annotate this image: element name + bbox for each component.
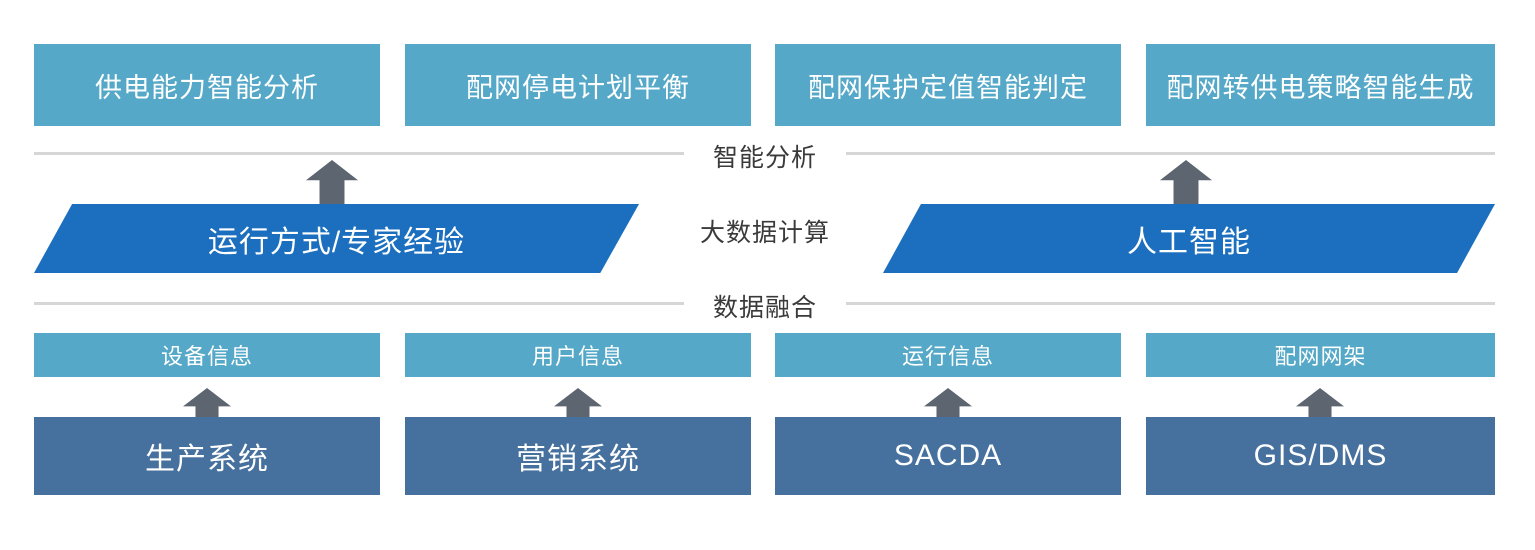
analysis-box-3[interactable]: 配网转供电策略智能生成: [1146, 44, 1495, 126]
source-system-3[interactable]: GIS/DMS: [1146, 417, 1495, 495]
analysis-box-label: 配网保护定值智能判定: [808, 66, 1088, 105]
analysis-box-label: 供电能力智能分析: [95, 66, 319, 105]
divider-line-analysis-left: [34, 152, 684, 155]
compute-block-label: 人工智能: [1127, 217, 1251, 261]
analysis-box-label: 配网转供电策略智能生成: [1167, 66, 1475, 105]
compute-block-1[interactable]: 人工智能: [883, 204, 1495, 273]
architecture-diagram: 供电能力智能分析 配网停电计划平衡 配网保护定值智能判定 配网转供电策略智能生成…: [0, 0, 1535, 550]
info-bar-1[interactable]: 用户信息: [405, 333, 751, 377]
info-bar-2[interactable]: 运行信息: [775, 333, 1121, 377]
layer-caption-compute: 大数据计算: [684, 213, 846, 249]
source-system-label: SACDA: [894, 439, 1002, 473]
info-bar-0[interactable]: 设备信息: [34, 333, 380, 377]
info-bar-label: 设备信息: [161, 339, 253, 371]
compute-block-0[interactable]: 运行方式/专家经验: [34, 204, 639, 273]
analysis-box-1[interactable]: 配网停电计划平衡: [405, 44, 751, 126]
compute-block-label: 运行方式/专家经验: [208, 217, 465, 261]
divider-line-fusion-right: [846, 302, 1495, 305]
analysis-box-0[interactable]: 供电能力智能分析: [34, 44, 380, 126]
source-system-1[interactable]: 营销系统: [405, 417, 751, 495]
arrow-up-icon: [306, 160, 358, 204]
source-system-label: GIS/DMS: [1254, 439, 1388, 473]
layer-caption-analysis: 智能分析: [684, 138, 846, 174]
info-bar-label: 用户信息: [532, 339, 624, 371]
source-system-0[interactable]: 生产系统: [34, 417, 380, 495]
info-bar-label: 运行信息: [902, 339, 994, 371]
layer-caption-fusion: 数据融合: [684, 288, 846, 324]
divider-line-analysis-right: [846, 152, 1495, 155]
source-system-label: 生产系统: [145, 434, 269, 478]
source-system-2[interactable]: SACDA: [775, 417, 1121, 495]
source-system-label: 营销系统: [516, 434, 640, 478]
analysis-box-2[interactable]: 配网保护定值智能判定: [775, 44, 1121, 126]
info-bar-3[interactable]: 配网网架: [1146, 333, 1495, 377]
analysis-box-label: 配网停电计划平衡: [466, 66, 690, 105]
divider-line-fusion-left: [34, 302, 684, 305]
info-bar-label: 配网网架: [1274, 339, 1366, 371]
arrow-up-icon: [1160, 160, 1212, 204]
